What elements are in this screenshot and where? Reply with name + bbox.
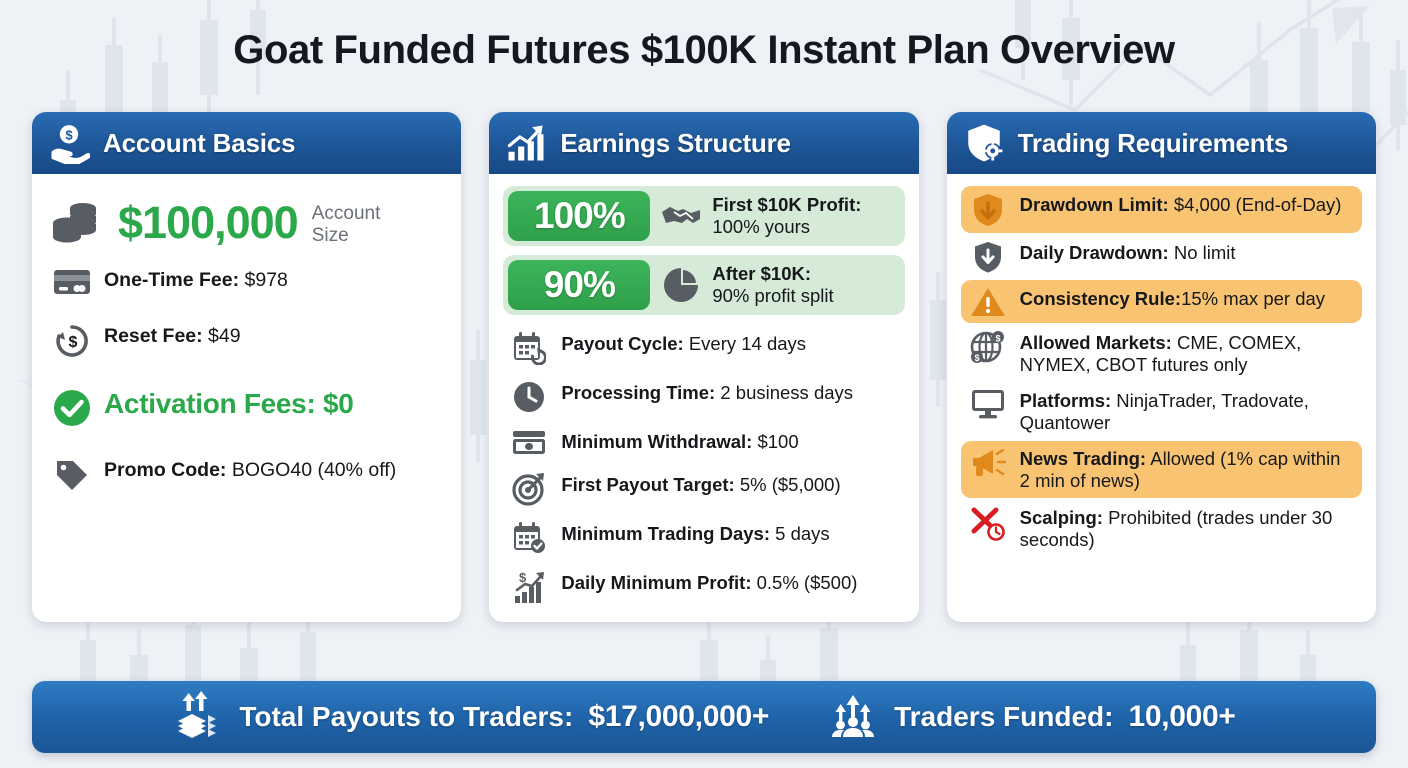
stat-value: $17,000,000+: [588, 700, 769, 734]
card-title: Account Basics: [103, 128, 295, 159]
profit-split-badge-90: 90%: [508, 260, 650, 310]
reset-dollar-icon: $: [52, 323, 92, 359]
card-title: Trading Requirements: [1018, 128, 1289, 159]
row-text: Reset Fee: $49: [104, 323, 241, 348]
megaphone-icon: [968, 446, 1008, 478]
row-text: Daily Drawdown: No limit: [1020, 240, 1236, 264]
calendar-check-icon: [509, 521, 549, 555]
money-stack-arrows-icon: [172, 691, 224, 743]
card-earnings-structure: Earnings Structure 100% First $: [489, 112, 918, 622]
card-header-account-basics: $ Account Basics: [32, 112, 461, 174]
page-title: Goat Funded Futures $100K Instant Plan O…: [0, 0, 1408, 72]
row-one-time-fee: One-Time Fee: $978: [46, 254, 447, 310]
row-platforms: Platforms: NinjaTrader, Tradovate, Quant…: [961, 382, 1362, 439]
hero-account-size: $100,000 Account Size: [46, 186, 447, 254]
stat-label: Total Payouts to Traders:: [239, 701, 573, 733]
row-text: Processing Time: 2 business days: [561, 380, 853, 404]
row-processing-time: Processing Time: 2 business days: [503, 373, 904, 422]
row-text: Promo Code: BOGO40 (40% off): [104, 457, 396, 482]
card-body-earnings-structure: 100% First $10K Profit: 100% yours: [489, 174, 918, 622]
row-drawdown-limit: Drawdown Limit: $4,000 (End-of-Day): [961, 186, 1362, 233]
row-minimum-withdrawal: Minimum Withdrawal: $100: [503, 422, 904, 465]
shield-down-arrow-icon: [968, 192, 1008, 228]
card-account-basics: $ Account Basics: [32, 112, 461, 622]
cards-container: $ Account Basics: [0, 112, 1408, 622]
svg-text:$: $: [995, 333, 1000, 343]
row-text: First Payout Target: 5% ($5,000): [561, 472, 840, 496]
clock-icon: [509, 380, 549, 414]
price-tag-icon: [52, 457, 92, 493]
row-consistency-rule: Consistency Rule:15% max per day: [961, 280, 1362, 323]
row-minimum-trading-days: Minimum Trading Days: 5 days: [503, 514, 904, 563]
target-arrow-icon: [509, 472, 549, 506]
stats-banner: Total Payouts to Traders: $17,000,000+ T…: [32, 681, 1376, 753]
svg-text:$: $: [519, 570, 527, 585]
row-reset-fee: $ Reset Fee: $49: [46, 310, 447, 372]
row-text: Drawdown Limit: $4,000 (End-of-Day): [1020, 192, 1342, 216]
stat-traders-funded: Traders Funded: 10,000+: [827, 691, 1236, 743]
dollar-growth-chart-icon: $: [509, 570, 549, 604]
activation-fees-text: Activation Fees: $0: [104, 388, 354, 420]
row-text: Daily Minimum Profit: 0.5% ($500): [561, 570, 857, 594]
calendar-cycle-icon: [509, 331, 549, 365]
pct-row-text: After $10K: 90% profit split: [712, 263, 833, 307]
warning-triangle-icon: [968, 286, 1008, 318]
row-text: Platforms: NinjaTrader, Tradovate, Quant…: [1020, 388, 1355, 434]
monitor-icon: [968, 388, 1008, 420]
svg-text:$: $: [65, 128, 73, 143]
shield-arrow-down-gray-icon: [968, 240, 1008, 274]
hand-holding-dollar-icon: $: [48, 122, 90, 164]
red-x-clock-icon: [968, 505, 1008, 541]
row-text: Scalping: Prohibited (trades under 30 se…: [1020, 505, 1355, 551]
row-allowed-markets: $ $ Allowed Markets: CME, COMEX, NYMEX, …: [961, 324, 1362, 381]
row-daily-drawdown: Daily Drawdown: No limit: [961, 234, 1362, 279]
stat-total-payouts: Total Payouts to Traders: $17,000,000+: [172, 691, 769, 743]
row-payout-cycle: Payout Cycle: Every 14 days: [503, 324, 904, 373]
bar-chart-growth-icon: [505, 122, 547, 164]
row-promo-code: Promo Code: BOGO40 (40% off): [46, 444, 447, 506]
card-body-account-basics: $100,000 Account Size: [32, 174, 461, 622]
row-text: One-Time Fee: $978: [104, 267, 288, 292]
coins-stack-icon: [50, 196, 104, 250]
row-text: Minimum Withdrawal: $100: [561, 429, 798, 453]
row-scalping: Scalping: Prohibited (trades under 30 se…: [961, 499, 1362, 556]
row-text: News Trading: Allowed (1% cap within 2 m…: [1020, 446, 1355, 492]
row-news-trading: News Trading: Allowed (1% cap within 2 m…: [961, 441, 1362, 498]
card-trading-requirements: Trading Requirements Drawdown Limit: $4,…: [947, 112, 1376, 622]
svg-text:$: $: [974, 353, 979, 363]
row-daily-minimum-profit: $ Daily Minimum Profit: 0.5% ($500): [503, 563, 904, 612]
shield-gear-icon: [963, 122, 1005, 164]
row-text: Payout Cycle: Every 14 days: [561, 331, 806, 355]
globe-dollar-icon: $ $: [968, 330, 1008, 364]
stat-label: Traders Funded:: [894, 701, 1113, 733]
row-text: Minimum Trading Days: 5 days: [561, 521, 829, 545]
card-header-earnings-structure: Earnings Structure: [489, 112, 918, 174]
row-text: Consistency Rule:15% max per day: [1020, 286, 1325, 310]
people-growth-icon: [827, 691, 879, 743]
pct-row-first-10k: 100% First $10K Profit: 100% yours: [503, 186, 904, 246]
pie-chart-icon: [659, 266, 703, 304]
row-activation-fees: Activation Fees: $0: [46, 372, 447, 444]
card-body-trading-requirements: Drawdown Limit: $4,000 (End-of-Day) Dail…: [947, 174, 1376, 622]
row-first-payout-target: First Payout Target: 5% ($5,000): [503, 465, 904, 514]
stat-value: 10,000+: [1128, 700, 1235, 734]
handshake-icon: [659, 200, 703, 232]
credit-card-icon: [52, 267, 92, 297]
account-size-amount: $100,000: [118, 197, 298, 249]
svg-text:$: $: [69, 334, 78, 351]
row-text: Allowed Markets: CME, COMEX, NYMEX, CBOT…: [1020, 330, 1355, 376]
card-header-trading-requirements: Trading Requirements: [947, 112, 1376, 174]
check-circle-icon: [52, 388, 92, 428]
profit-split-badge-100: 100%: [508, 191, 650, 241]
pct-row-after-10k: 90% After $10K: 90% profit split: [503, 255, 904, 315]
pct-row-text: First $10K Profit: 100% yours: [712, 194, 861, 238]
banknote-icon: [509, 429, 549, 457]
account-size-label: Account Size: [312, 200, 381, 246]
card-title: Earnings Structure: [560, 128, 790, 159]
